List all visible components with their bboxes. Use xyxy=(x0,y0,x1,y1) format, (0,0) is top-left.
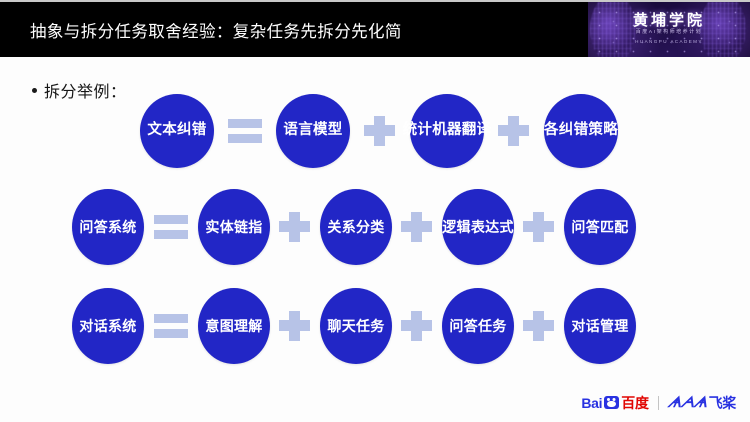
paddlepaddle-logo: ᗗᗅᗗ 飞桨 xyxy=(668,395,736,410)
equation-left-node: 文本纠错 xyxy=(140,94,214,168)
plus-operator-icon xyxy=(274,309,316,343)
academy-logo-panel: 黄埔学院 百度AI架构师培养计划 HUANGPU ACADEMY xyxy=(588,2,750,57)
equation-left-node: 对话系统 xyxy=(72,288,144,364)
equals-operator-icon xyxy=(148,212,194,242)
equals-operator-icon xyxy=(148,311,194,341)
plus-operator-icon xyxy=(274,210,316,244)
plus-operator-icon xyxy=(359,114,401,148)
equation-term-node: 意图理解 xyxy=(198,288,270,364)
node-label: 问答系统 xyxy=(75,220,140,235)
page-title: 抽象与拆分任务取舍经验：复杂任务先拆分先化简 xyxy=(30,18,402,42)
bullet-dot-icon xyxy=(32,88,37,93)
equation-term-node: 语言模型 xyxy=(276,94,350,168)
plus-operator-icon xyxy=(518,309,560,343)
paddle-wordmark-cn: 飞桨 xyxy=(709,396,736,410)
equation-term-node: 关系分类 xyxy=(320,189,392,265)
equation-row-dialogue-system: 对话系统 意图理解 聊天任务 问答任务 对话管理 xyxy=(72,288,636,364)
equation-term-node: 实体链指 xyxy=(198,189,270,265)
equation-term-node: 统计机器翻译 xyxy=(410,94,484,168)
node-label: 关系分类 xyxy=(323,220,388,235)
footer-logos: Bai 百度 ᗗᗅᗗ 飞桨 xyxy=(581,395,736,410)
baidu-wordmark-cn: 百度 xyxy=(621,396,649,410)
node-label: 统计机器翻译 xyxy=(399,123,496,138)
equation-term-node: 各纠错策略 xyxy=(544,94,618,168)
equals-operator-icon xyxy=(222,116,268,146)
plus-operator-icon xyxy=(396,309,438,343)
equation-term-node: 问答任务 xyxy=(442,288,514,364)
equation-row-qa-system: 问答系统 实体链指 关系分类 逻辑表达式 问答匹配 xyxy=(72,189,636,265)
academy-name-cn: 黄埔学院 xyxy=(588,9,750,30)
node-label: 对话系统 xyxy=(75,319,140,334)
paddle-mark-icon: ᗗᗅᗗ xyxy=(666,395,708,410)
academy-name-en: HUANGPU ACADEMY xyxy=(588,39,750,44)
equation-term-node: 问答匹配 xyxy=(564,189,636,265)
node-label: 问答匹配 xyxy=(567,220,632,235)
slide-header: 抽象与拆分任务取舍经验：复杂任务先拆分先化简 黄埔学院 百度AI架构师培养计划 … xyxy=(0,2,750,57)
bullet-heading: 拆分举例： xyxy=(32,78,127,102)
node-label: 对话管理 xyxy=(567,319,632,334)
bullet-label: 拆分举例： xyxy=(44,78,127,102)
node-label: 意图理解 xyxy=(201,319,266,334)
node-label: 各纠错策略 xyxy=(540,123,622,138)
equation-term-node: 对话管理 xyxy=(564,288,636,364)
logo-divider xyxy=(658,396,659,410)
node-label: 逻辑表达式 xyxy=(438,220,518,235)
academy-subtitle-cn: 百度AI架构师培养计划 xyxy=(591,28,747,35)
node-label: 语言模型 xyxy=(279,123,346,138)
baidu-paw-icon xyxy=(604,396,619,409)
equation-left-node: 问答系统 xyxy=(72,189,144,265)
node-label: 聊天任务 xyxy=(323,319,388,334)
slide-canvas: 抽象与拆分任务取舍经验：复杂任务先拆分先化简 黄埔学院 百度AI架构师培养计划 … xyxy=(0,0,750,422)
equation-row-text-correction: 文本纠错 语言模型 统计机器翻译 各纠错策略 xyxy=(140,94,618,168)
equation-term-node: 逻辑表达式 xyxy=(442,189,514,265)
baidu-logo: Bai 百度 xyxy=(581,396,649,410)
node-label: 问答任务 xyxy=(445,319,510,334)
equation-term-node: 聊天任务 xyxy=(320,288,392,364)
baidu-wordmark-en: Bai xyxy=(581,396,602,410)
plus-operator-icon xyxy=(493,114,535,148)
plus-operator-icon xyxy=(518,210,560,244)
node-label: 文本纠错 xyxy=(143,123,210,138)
node-label: 实体链指 xyxy=(201,220,266,235)
plus-operator-icon xyxy=(396,210,438,244)
